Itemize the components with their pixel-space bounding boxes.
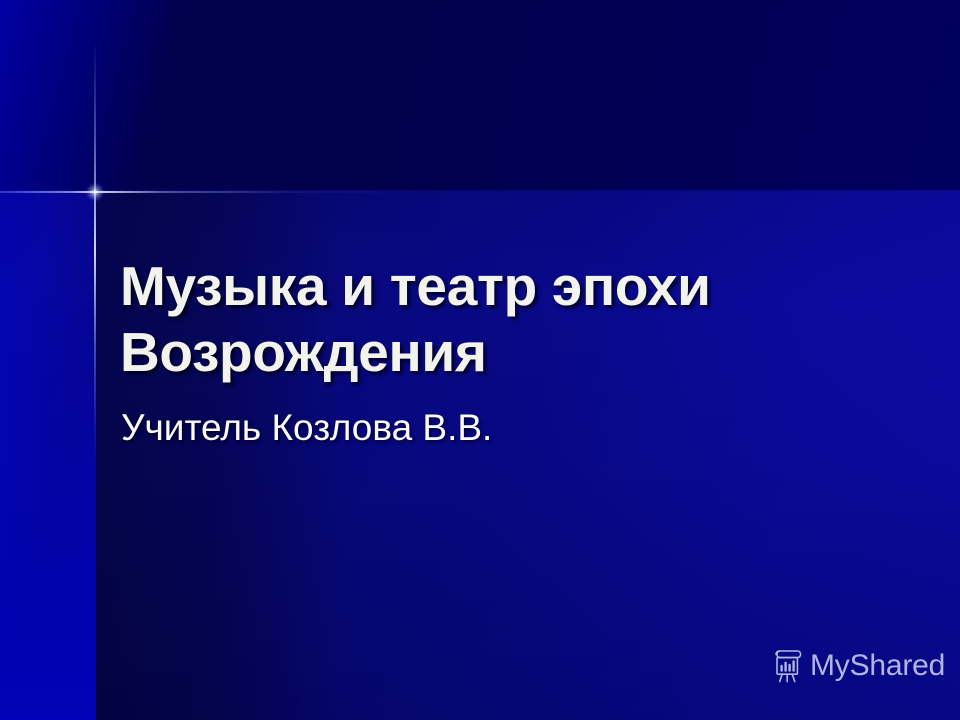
sparkle-vertical-ray [94, 42, 96, 462]
sparkle-horizontal-ray [0, 191, 415, 193]
slide-title: Музыка и театр эпохиВозрождения [120, 253, 860, 386]
myshared-watermark: MyShared [770, 648, 945, 684]
slide-title-line-1: Музыка и театр эпохи [120, 255, 711, 317]
flipchart-bar-chart-icon [770, 648, 804, 684]
presentation-slide: Музыка и театр эпохиВозрождения Учитель … [0, 0, 960, 720]
slide-background-left-glow [0, 191, 96, 720]
myshared-watermark-label: MyShared [810, 651, 945, 681]
slide-title-line-2: Возрождения [120, 321, 487, 383]
slide-subtitle: Учитель Козлова В.В. [121, 406, 861, 450]
sparkle-core-glow [86, 183, 104, 201]
